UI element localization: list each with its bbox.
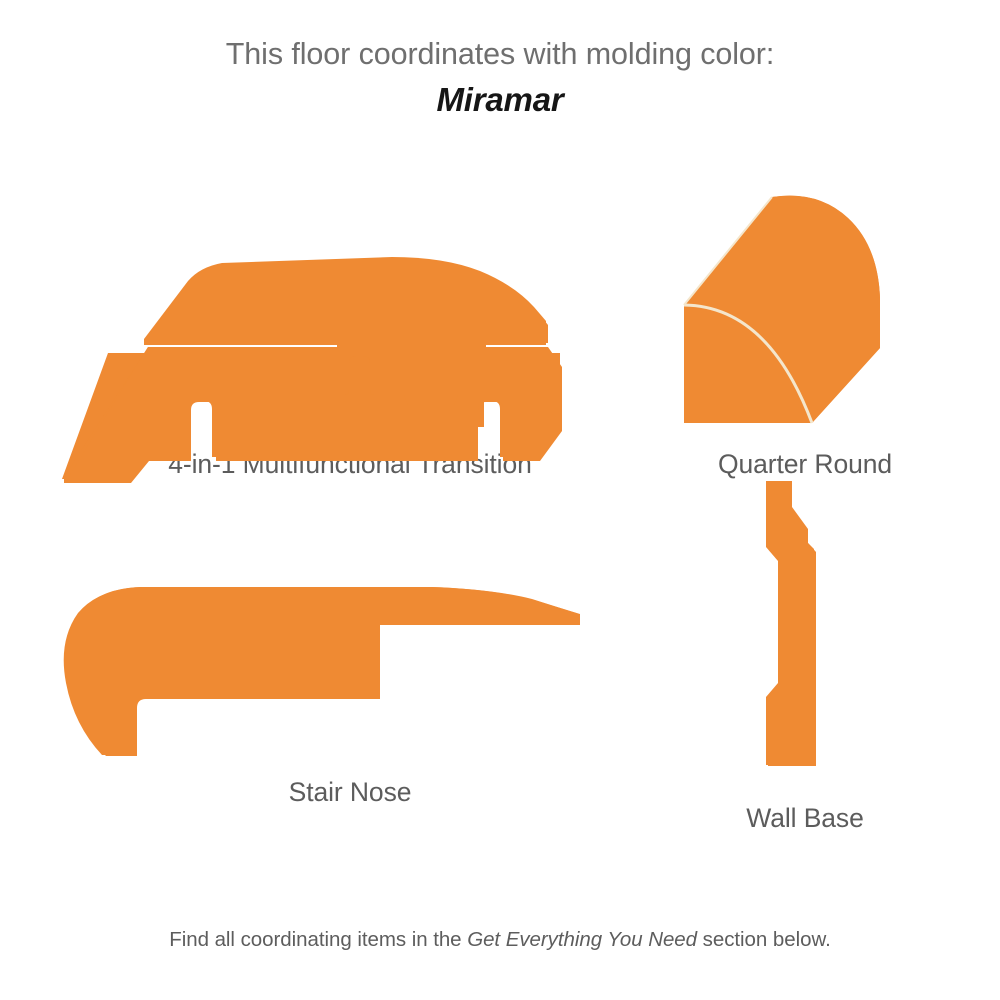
page-title: This floor coordinates with molding colo… — [0, 38, 1000, 72]
footer-note: Find all coordinating items in the Get E… — [0, 928, 1000, 952]
quarter-round-profile-icon — [640, 180, 970, 435]
quarter-round-profile-art — [640, 180, 970, 435]
molding-item-transition[interactable]: 4-in-1 Multifunctional Transition — [40, 195, 660, 480]
molding-label-stair-nose: Stair Nose — [40, 777, 660, 808]
wall-base-profile-icon — [640, 475, 970, 775]
molding-item-wall-base[interactable]: Wall Base — [640, 475, 970, 834]
molding-color-name: Miramar — [0, 82, 1000, 118]
page-header: This floor coordinates with molding colo… — [0, 38, 1000, 118]
molding-coordination-panel: This floor coordinates with molding colo… — [0, 0, 1000, 1000]
stair-nose-profile-icon — [40, 565, 660, 755]
transition-profile-icon — [40, 195, 660, 435]
footer-text-emphasis: Get Everything You Need — [467, 928, 697, 951]
transition-profile-art — [40, 195, 660, 435]
wall-base-profile-art — [640, 475, 970, 775]
stair-nose-profile-art — [40, 565, 660, 755]
molding-label-wall-base: Wall Base — [640, 803, 970, 834]
footer-text-after: section below. — [697, 928, 831, 951]
molding-grid: 4-in-1 Multifunctional Transition Quarte… — [0, 175, 1000, 875]
molding-item-quarter-round[interactable]: Quarter Round — [640, 180, 970, 480]
molding-item-stair-nose[interactable]: Stair Nose — [40, 565, 660, 808]
footer-text-before: Find all coordinating items in the — [169, 928, 467, 951]
